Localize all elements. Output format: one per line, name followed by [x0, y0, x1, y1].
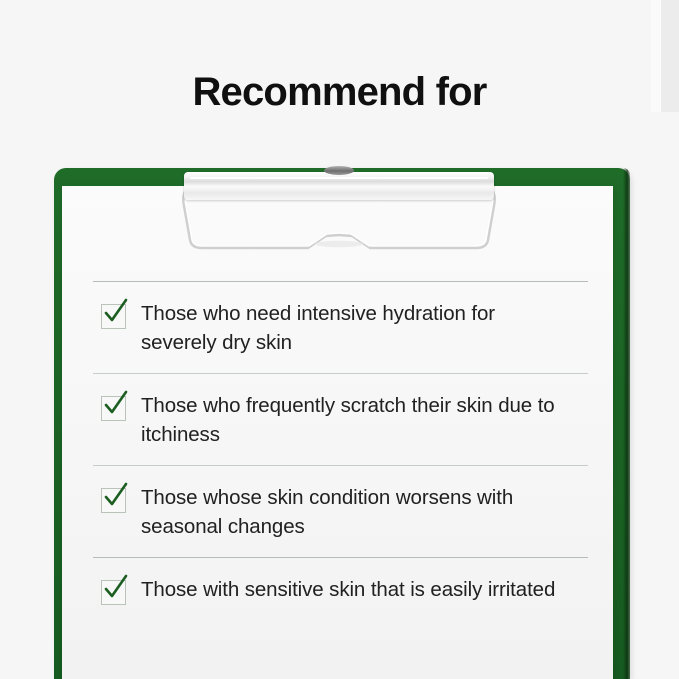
checkmark-icon [100, 389, 130, 419]
checkbox-3[interactable] [101, 488, 126, 513]
checkmark-icon [100, 297, 130, 327]
checkmark-icon [100, 481, 130, 511]
checkbox-4[interactable] [101, 580, 126, 605]
page-stage: Recommend for Those who need intensive h… [0, 0, 679, 679]
list-item[interactable]: Those whose skin condition worsens with … [93, 466, 588, 557]
list-item[interactable]: Those who frequently scratch their skin … [93, 374, 588, 465]
list-item-label: Those who frequently scratch their skin … [141, 391, 571, 449]
checkbox-2[interactable] [101, 396, 126, 421]
recommendation-checklist: Those who need intensive hydration for s… [93, 281, 588, 621]
list-item-label: Those with sensitive skin that is easily… [141, 575, 555, 604]
clipboard-right-edge [623, 168, 630, 679]
checkmark-icon [100, 573, 130, 603]
list-item[interactable]: Those who need intensive hydration for s… [93, 282, 588, 373]
clip-rivet-icon [324, 166, 354, 175]
list-item-label: Those whose skin condition worsens with … [141, 483, 571, 541]
checkbox-1[interactable] [101, 304, 126, 329]
list-item[interactable]: Those with sensitive skin that is easily… [93, 558, 588, 621]
page-title: Recommend for [0, 70, 679, 115]
list-item-label: Those who need intensive hydration for s… [141, 299, 571, 357]
clipboard-clip-icon [176, 166, 502, 256]
clip-highlight [190, 177, 488, 179]
